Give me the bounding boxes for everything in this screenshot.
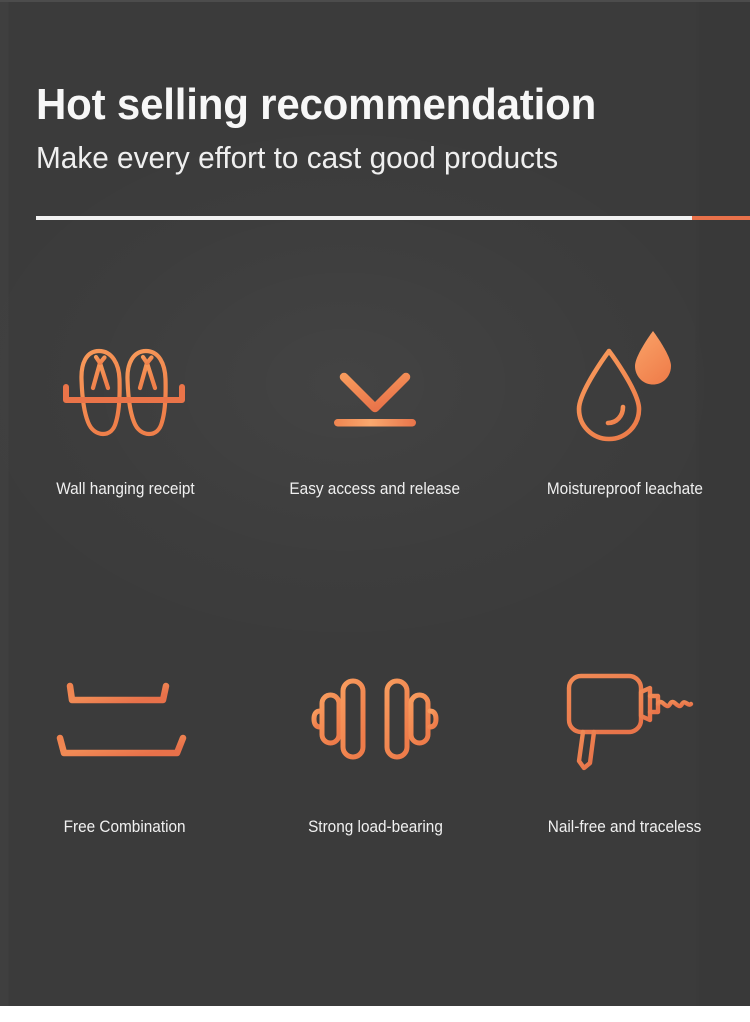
feature-item-easy-access-and-release: Easy access and release	[250, 294, 500, 634]
flip-flops-on-rail-icon	[40, 294, 210, 474]
feature-item-strong-load-bearing: Strong load-bearing	[250, 634, 500, 974]
feature-item-nail-free-and-traceless: Nail-free and traceless	[500, 634, 750, 974]
feature-label: Moistureproof leachate	[547, 480, 703, 499]
page-title: Hot selling recommendation	[36, 80, 685, 129]
feature-item-moistureproof-leachate: Moistureproof leachate	[500, 294, 750, 634]
feature-row-2: Free Combination	[0, 634, 750, 974]
power-drill-icon	[540, 634, 710, 804]
feature-label: Wall hanging receipt	[56, 480, 194, 499]
header-block: Hot selling recommendation Make every ef…	[36, 80, 716, 176]
footer-white-strip	[0, 1006, 750, 1022]
feature-label: Nail-free and traceless	[548, 818, 702, 837]
header-divider	[36, 216, 750, 220]
feature-label: Free Combination	[64, 818, 186, 837]
feature-item-wall-hanging-receipt: Wall hanging receipt	[0, 294, 250, 634]
download-arrow-icon	[290, 294, 460, 474]
feature-grid: Wall hanging receipt	[0, 294, 750, 974]
water-droplets-icon	[540, 294, 710, 474]
dumbbell-icon	[290, 634, 460, 804]
feature-row-1: Wall hanging receipt	[0, 294, 750, 634]
feature-label: Strong load-bearing	[308, 818, 443, 837]
double-rail-icon	[40, 634, 210, 804]
promo-panel: Hot selling recommendation Make every ef…	[0, 0, 750, 1006]
divider-accent-segment	[692, 216, 750, 220]
page-subtitle: Make every effort to cast good products	[36, 139, 689, 176]
feature-label: Easy access and release	[290, 480, 461, 499]
divider-white-segment	[36, 216, 692, 220]
feature-item-free-combination: Free Combination	[0, 634, 250, 974]
